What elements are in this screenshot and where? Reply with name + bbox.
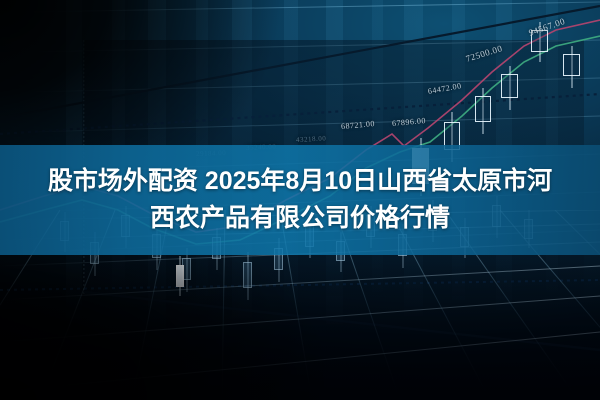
candle — [501, 66, 518, 110]
candle — [563, 46, 580, 88]
title-line-1: 股市场外配资 2025年8月10日山西省太原市河 — [48, 163, 552, 200]
title-line-2: 西农产品有限公司价格行情 — [150, 200, 450, 237]
page-title: 股市场外配资 2025年8月10日山西省太原市河 西农产品有限公司价格行情 — [0, 145, 600, 255]
price-label-43218: 43218.00 — [296, 134, 327, 144]
banner-graphic: 94567.00 72500.00 64472.00 67896.00 6872… — [0, 0, 600, 400]
candle — [475, 88, 491, 134]
